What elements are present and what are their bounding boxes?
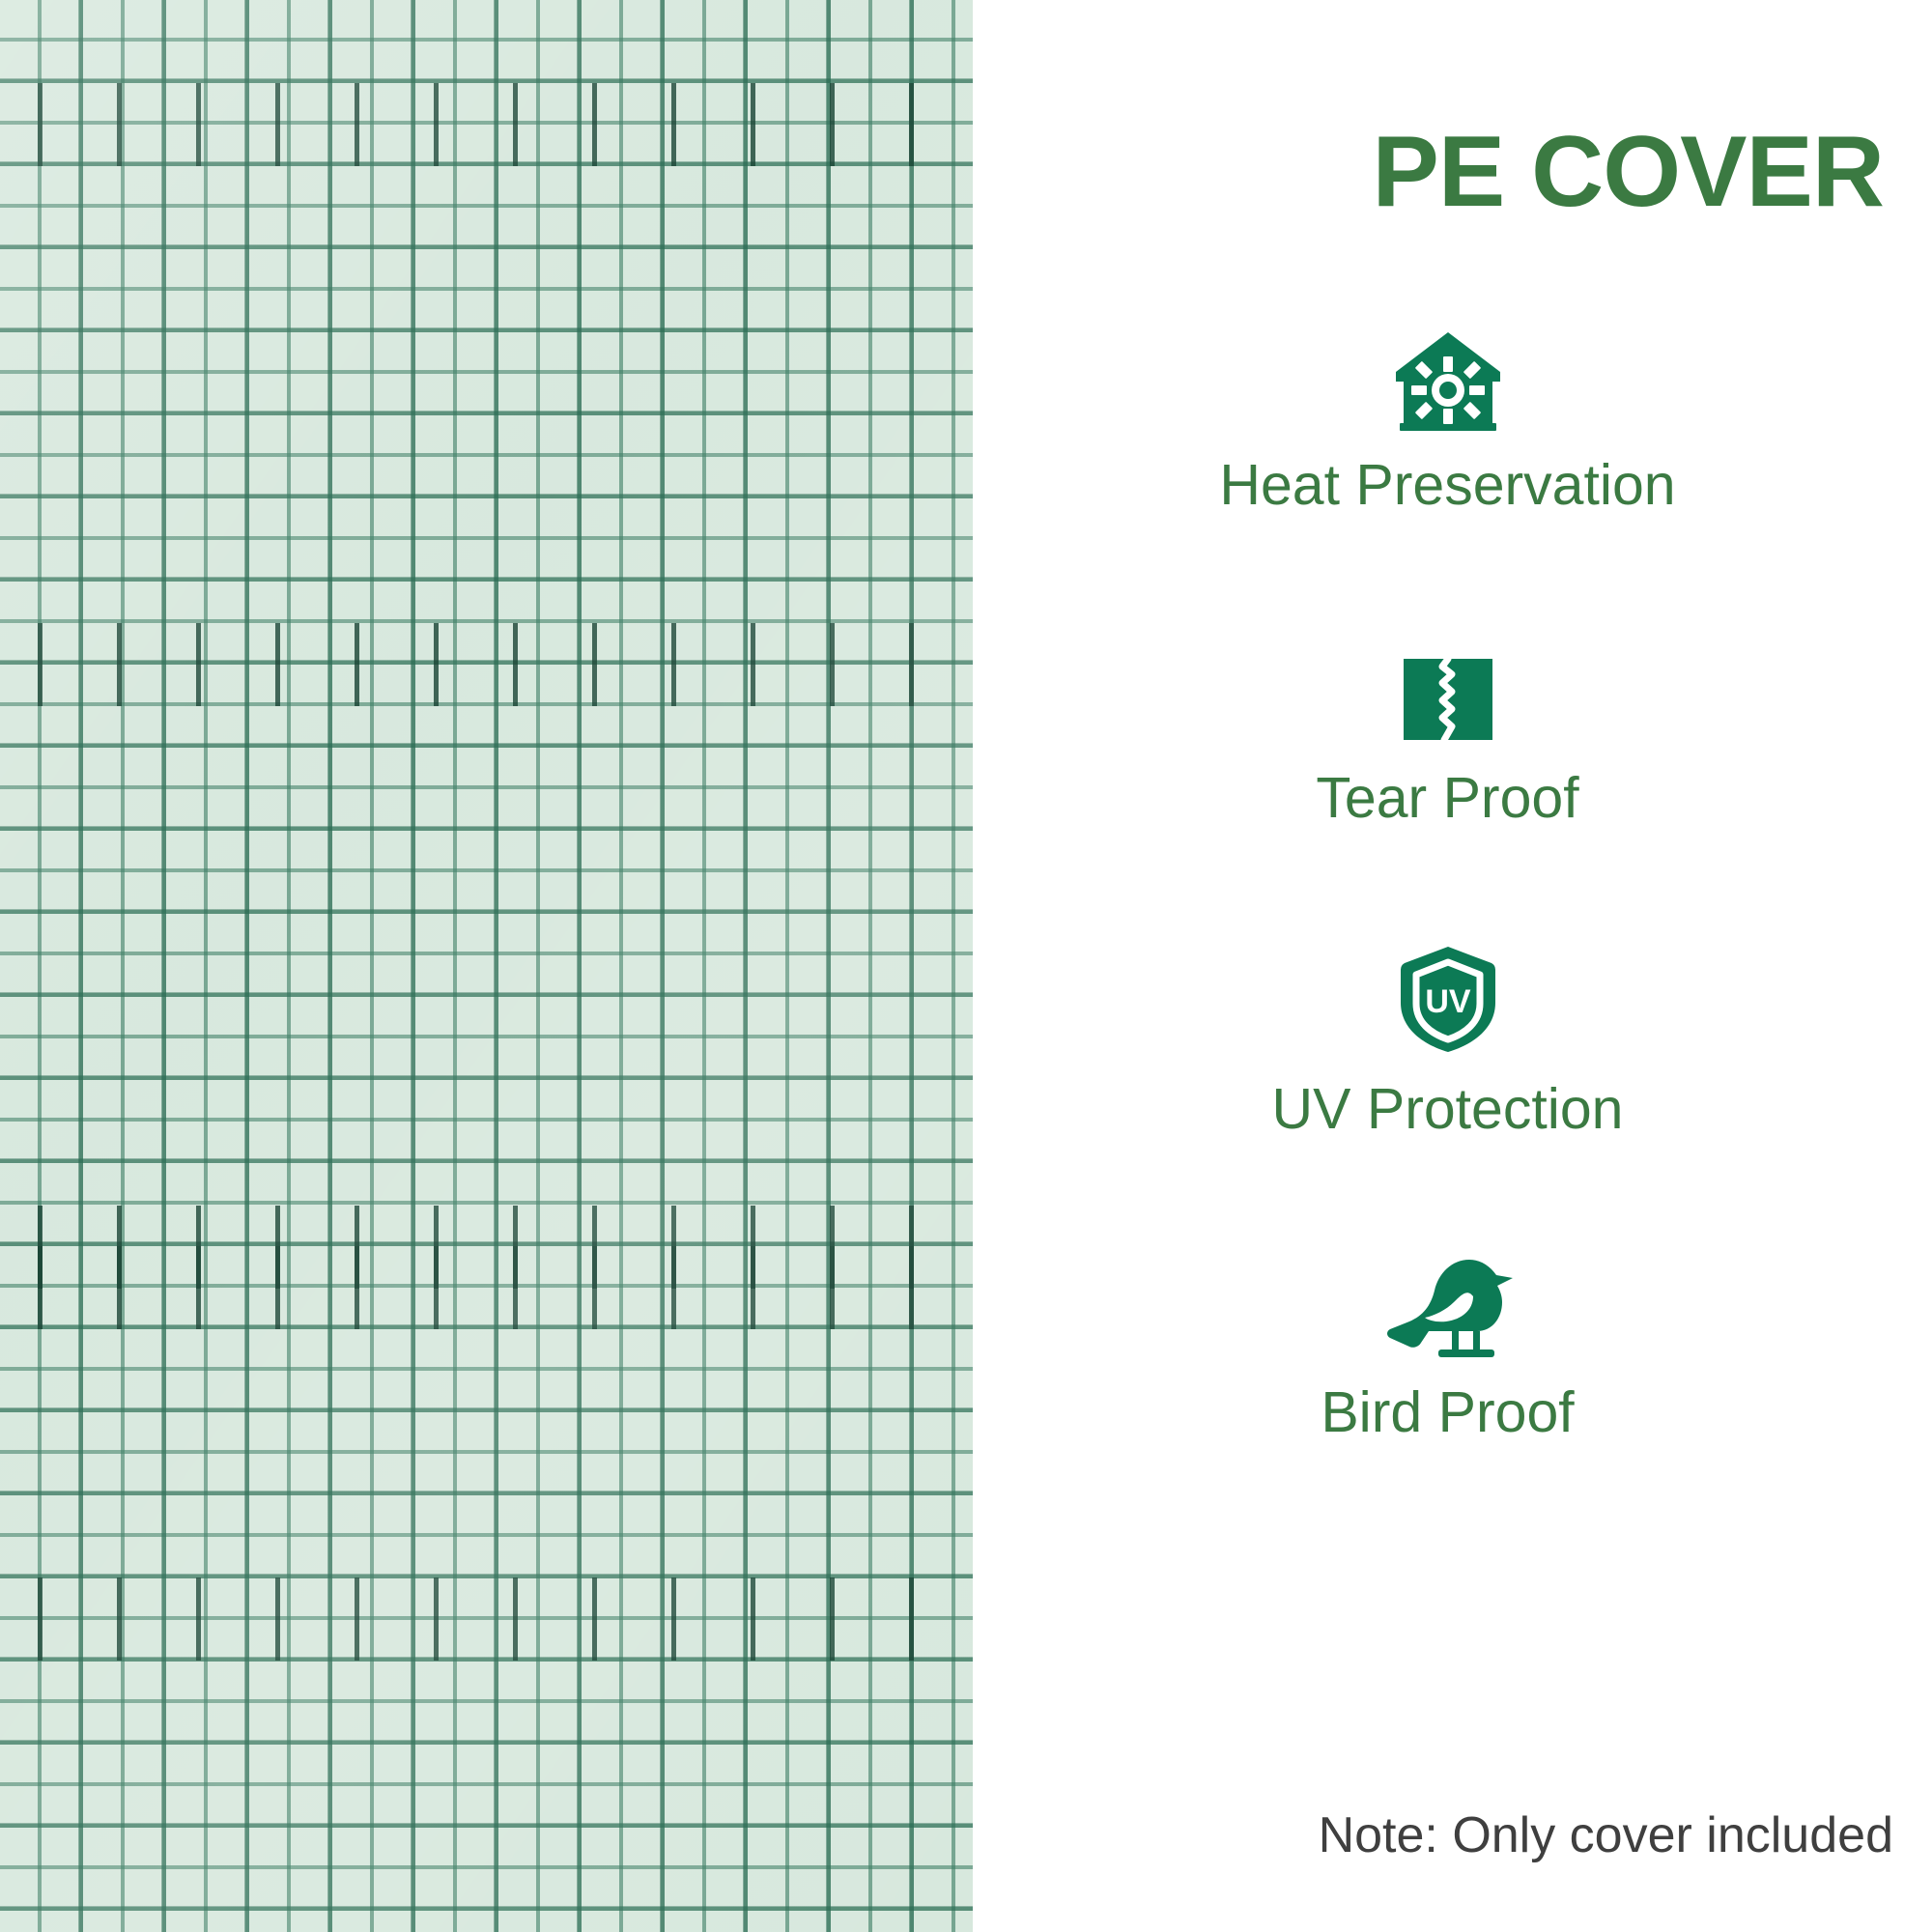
- uv-badge-text: UV: [1425, 983, 1471, 1020]
- note-text: Note: Only cover included: [1319, 1810, 1893, 1861]
- bird-icon: [1380, 1246, 1516, 1358]
- page-title: PE COVER: [1002, 122, 1893, 222]
- feature-item-uv-protection: UV UV Protection: [1002, 943, 1893, 1140]
- feature-item-bird-proof: Bird Proof: [1002, 1246, 1893, 1443]
- mesh-ripstop-band: [0, 83, 973, 166]
- feature-label-tear-proof: Tear Proof: [1316, 769, 1578, 829]
- feature-item-heat-preservation: Heat Preservation: [1002, 319, 1893, 516]
- torn-sheet-icon: [1401, 632, 1495, 744]
- mesh-ripstop-band: [0, 1246, 973, 1329]
- feature-label-uv-protection: UV Protection: [1272, 1080, 1624, 1140]
- product-infographic: PE COVER: [0, 0, 1932, 1932]
- feature-info-panel: PE COVER: [973, 0, 1932, 1932]
- mesh-ripstop-band: [0, 1577, 973, 1661]
- feature-item-tear-proof: Tear Proof: [1002, 632, 1893, 829]
- mesh-ripstop-band: [0, 623, 973, 706]
- greenhouse-sun-icon: [1392, 319, 1504, 431]
- pe-mesh-fabric-swatch: [0, 0, 973, 1932]
- uv-shield-icon: UV: [1397, 943, 1499, 1055]
- feature-label-bird-proof: Bird Proof: [1321, 1383, 1574, 1443]
- feature-list: Heat Preservation Tear Proof: [1002, 319, 1893, 1443]
- feature-label-heat-preservation: Heat Preservation: [1219, 456, 1675, 516]
